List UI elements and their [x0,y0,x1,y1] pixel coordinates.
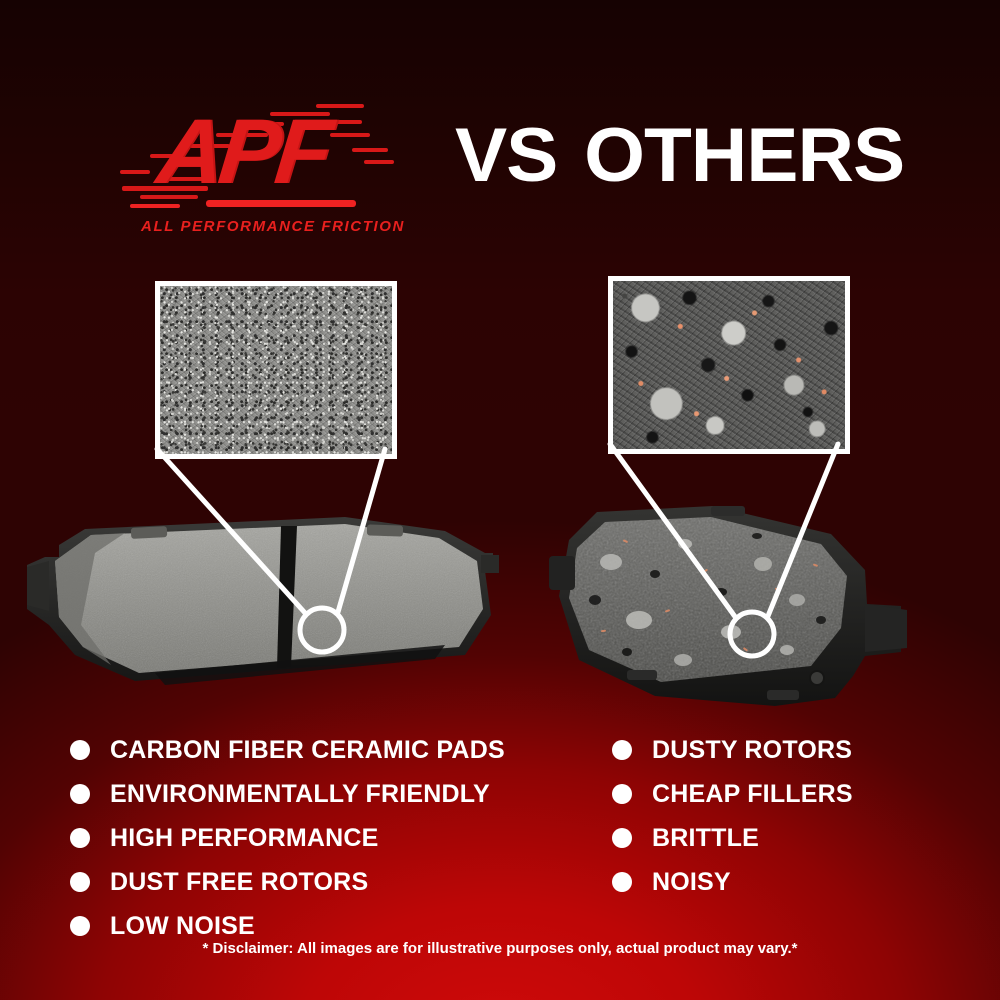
list-item: CHEAP FILLERS [612,772,853,816]
others-label: OTHERS [584,113,904,198]
feature-label: ENVIRONMENTALLY FRIENDLY [110,780,490,809]
bullet-icon [70,916,90,936]
feature-label: DUSTY ROTORS [652,736,852,765]
vs-label: VS [455,113,557,198]
competitor-side-tab-left [549,556,575,590]
competitor-side-tab-right [865,604,907,652]
competitor-plate-hole [810,671,824,685]
feature-label: CARBON FIBER CERAMIC PADS [110,736,505,765]
list-item: DUST FREE ROTORS [70,860,505,904]
apf-brake-pad-image [15,505,515,705]
bullet-icon [612,872,632,892]
bullet-icon [70,828,90,848]
feature-label: HIGH PERFORMANCE [110,824,378,853]
apf-logo-text: APF [153,106,332,198]
list-item: NOISY [612,860,853,904]
disclaimer-text: * Disclaimer: All images are for illustr… [0,940,1000,957]
comparison-infographic: APF ALL PERFORMANCE FRICTION VSOTHERS [0,0,1000,1000]
list-item: BRITTLE [612,816,853,860]
list-item: HIGH PERFORMANCE [70,816,505,860]
pad-side-ear [27,561,49,611]
bullet-icon [70,872,90,892]
apf-feature-list: CARBON FIBER CERAMIC PADS ENVIRONMENTALL… [70,728,505,948]
apf-tagline: ALL PERFORMANCE FRICTION [138,218,408,235]
bullet-icon [612,828,632,848]
vs-others-heading: VSOTHERS [455,118,904,194]
bullet-icon [612,740,632,760]
feature-label: BRITTLE [652,824,759,853]
feature-label: LOW NOISE [110,912,255,941]
feature-label: NOISY [652,868,731,897]
apf-logo: APF ALL PERFORMANCE FRICTION [120,100,420,240]
competitor-bottom-tab-right [767,690,799,700]
coarse-texture [613,281,845,449]
swatch-apf-material [155,281,397,459]
feature-label: DUST FREE ROTORS [110,868,368,897]
competitor-feature-list: DUSTY ROTORS CHEAP FILLERS BRITTLE NOISY [612,728,853,904]
bullet-icon [70,740,90,760]
competitor-brake-pad-image [535,500,935,715]
feature-label: CHEAP FILLERS [652,780,853,809]
list-item: CARBON FIBER CERAMIC PADS [70,728,505,772]
competitor-top-tab [711,506,745,516]
swatch-competitor-material [608,276,850,454]
list-item: ENVIRONMENTALLY FRIENDLY [70,772,505,816]
pad-top-tab-right [367,524,403,536]
pad-top-tab-left [131,526,168,539]
fine-texture [160,286,392,454]
competitor-bottom-tab-left [627,670,657,680]
pad-side-ear-right [481,555,499,573]
bullet-icon [70,784,90,804]
list-item: DUSTY ROTORS [612,728,853,772]
bullet-icon [612,784,632,804]
